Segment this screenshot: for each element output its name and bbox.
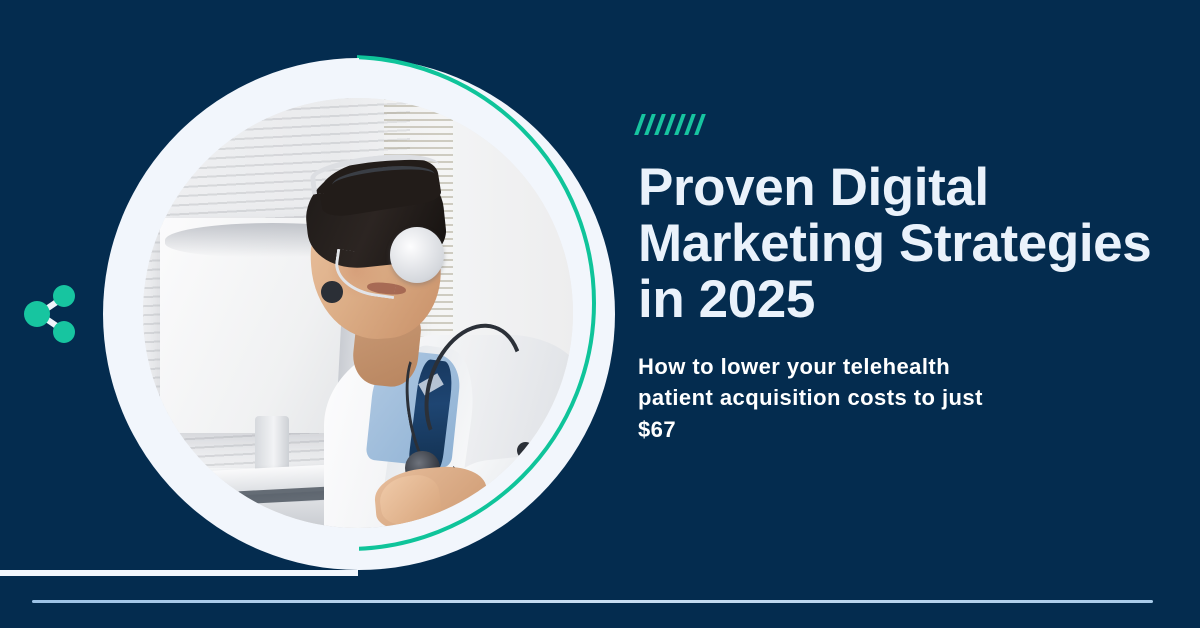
slash-accent-mark (644, 114, 656, 135)
slash-accent-mark (634, 114, 646, 135)
headset-earcup (390, 227, 444, 283)
text-content: Proven Digital Marketing Strategies in 2… (638, 112, 1158, 446)
blog-banner: Proven Digital Marketing Strategies in 2… (0, 0, 1200, 628)
share-icon[interactable] (22, 283, 80, 345)
share-icon-glyph (22, 283, 80, 345)
slash-accent-mark (674, 114, 686, 135)
slash-accent-mark (684, 114, 696, 135)
hero-visual (0, 0, 620, 628)
slash-accent-mark (694, 114, 706, 135)
page-subtitle: How to lower your telehealth patient acq… (638, 351, 1018, 447)
doctor-photo (143, 98, 573, 528)
headset-microphone (321, 281, 343, 303)
slash-accent-mark (654, 114, 666, 135)
page-title: Proven Digital Marketing Strategies in 2… (638, 160, 1158, 329)
slash-accent (638, 112, 1158, 136)
slash-accent-mark (664, 114, 676, 135)
bottom-divider (32, 600, 1153, 603)
doctor-photo-scene (143, 98, 573, 528)
